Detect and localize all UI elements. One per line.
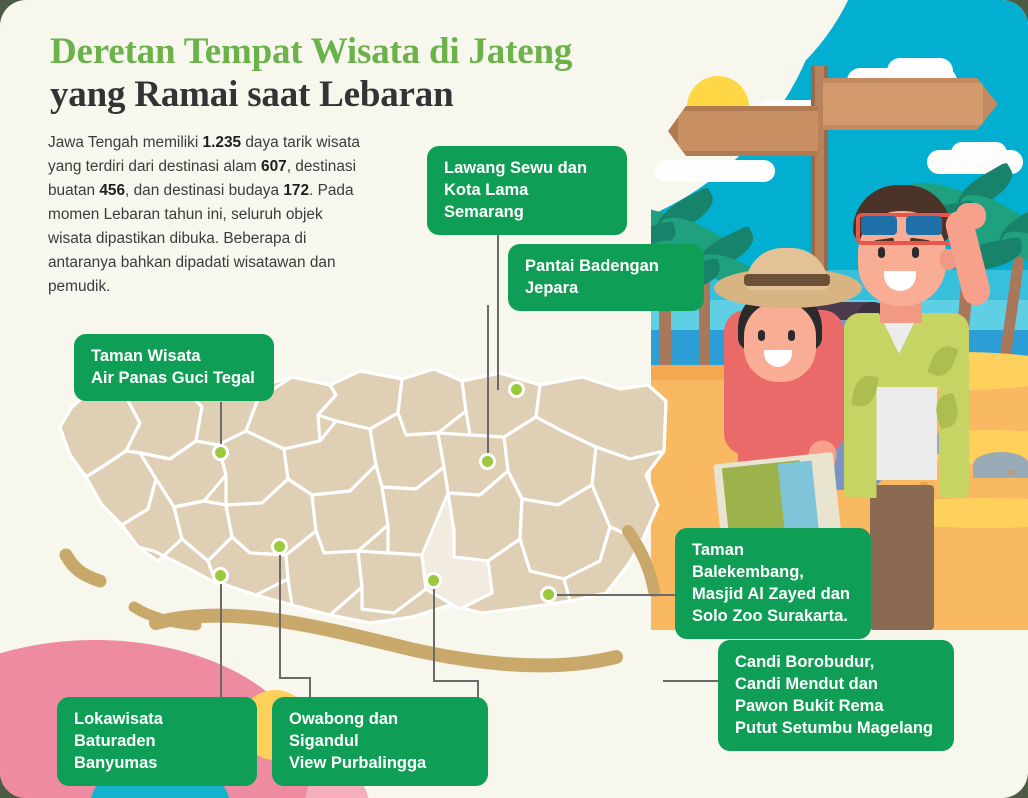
stat-nature: 607	[261, 158, 287, 175]
infographic-page: ✦	[0, 0, 1028, 798]
stat-total-attractions: 1.235	[203, 134, 242, 151]
map-svg	[30, 355, 670, 695]
map-south-coast	[156, 616, 616, 666]
map-marker-owabong[interactable]	[271, 538, 288, 555]
map-marker-balekembang[interactable]	[540, 586, 557, 603]
intro-paragraph: Jawa Tengah memiliki 1.235 daya tarik wi…	[48, 131, 366, 299]
signpost-arrow-right	[823, 78, 998, 130]
label-guci-tegal[interactable]: Taman Wisata Air Panas Guci Tegal	[74, 334, 274, 401]
map-marker-baturaden[interactable]	[212, 567, 229, 584]
java-map	[30, 355, 670, 695]
cloud-icon	[655, 160, 775, 182]
label-borobudur[interactable]: Candi Borobudur, Candi Mendut dan Pawon …	[718, 640, 954, 751]
label-owabong[interactable]: Owabong dan Sigandul View Purbalingga	[272, 697, 488, 786]
connector-line	[279, 677, 309, 679]
map-marker-pantai-bandengan[interactable]	[479, 453, 496, 470]
connector-line	[487, 305, 489, 461]
map-marker-guci-tegal[interactable]	[212, 444, 229, 461]
label-balekembang[interactable]: Taman Balekembang, Masjid Al Zayed dan S…	[675, 528, 871, 639]
stat-artificial: 456	[99, 182, 125, 199]
connector-line	[220, 582, 222, 700]
signpost-arrow-left	[668, 106, 818, 156]
intro-part-1: Jawa Tengah memiliki	[48, 134, 203, 151]
connector-line	[433, 586, 435, 680]
label-pantai-bandengan[interactable]: Pantai Badengan Jepara	[508, 244, 704, 311]
page-title-line2: yang Ramai saat Lebaran	[50, 73, 690, 116]
intro-part-4: , dan destinasi budaya	[125, 182, 283, 199]
map-marker-borobudur[interactable]	[425, 572, 442, 589]
label-baturaden[interactable]: Lokawisata Baturaden Banyumas	[57, 697, 257, 786]
connector-line	[556, 594, 684, 596]
connector-line	[477, 680, 479, 698]
map-marker-lawang-sewu[interactable]	[508, 381, 525, 398]
page-title: Deretan Tempat Wisata di Jateng yang Ram…	[50, 30, 690, 117]
connector-line	[279, 552, 281, 677]
page-title-line1: Deretan Tempat Wisata di Jateng	[50, 30, 690, 73]
stat-culture: 172	[283, 182, 309, 199]
connector-line	[309, 677, 311, 699]
connector-line	[433, 680, 477, 682]
cloud-icon	[951, 142, 1007, 164]
label-lawang-sewu[interactable]: Lawang Sewu dan Kota Lama Semarang	[427, 146, 627, 235]
